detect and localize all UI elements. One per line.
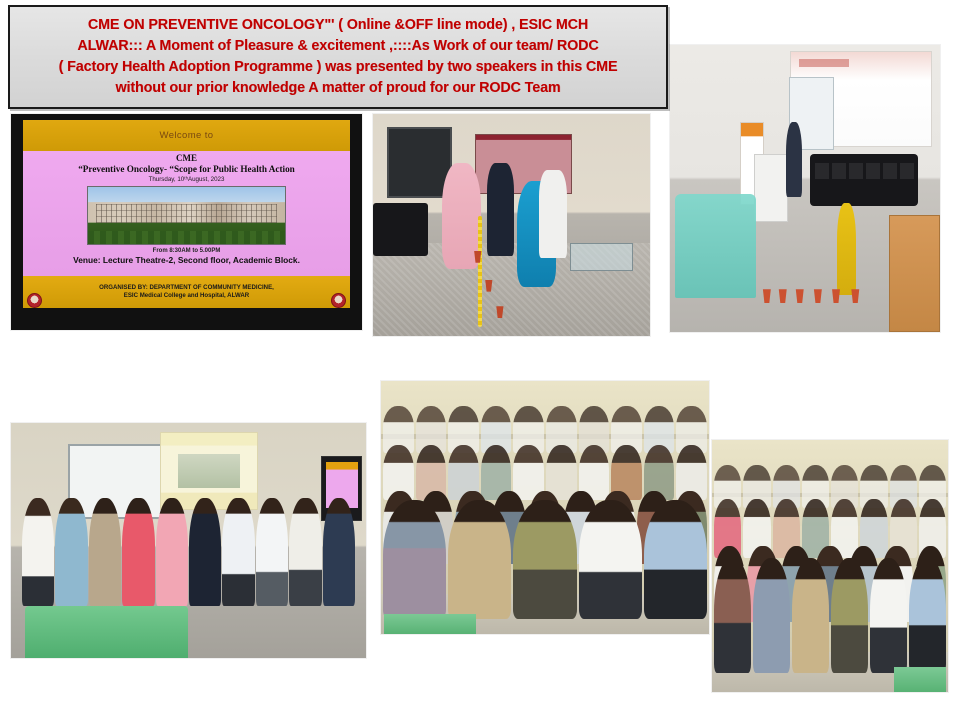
- green-bench: [384, 614, 476, 634]
- slide-organised-line-1: ORGANISED BY: DEPARTMENT OF COMMUNITY ME…: [99, 284, 274, 292]
- audience-rows: [712, 465, 948, 677]
- person: [644, 500, 707, 619]
- photo-speaker-at-podium: [670, 45, 940, 332]
- person-dark-suit: [487, 163, 515, 256]
- green-bench: [25, 606, 188, 658]
- slide-welcome-band: Welcome to: [23, 120, 349, 150]
- tv-screen: Welcome to CME “Preventive Oncology- “Sc…: [23, 120, 349, 308]
- esic-logo-left-icon: [27, 293, 42, 308]
- slide-date: Thursday, 10ᵗʰAugust, 2023: [149, 176, 225, 183]
- esic-logo-right-icon: [331, 293, 346, 308]
- person: [89, 498, 121, 606]
- person: [909, 558, 946, 672]
- title-line-3: ( Factory Health Adoption Programme ) wa…: [59, 57, 618, 78]
- lamp-lighting-scene: [373, 114, 650, 336]
- wall-monitor: [387, 127, 452, 198]
- audience-scene: [381, 381, 709, 634]
- potted-plant: [794, 289, 805, 303]
- podium: [754, 154, 788, 222]
- potted-plant-row: [759, 217, 872, 303]
- speaker-person: [786, 122, 802, 197]
- person: [22, 498, 54, 606]
- podium-scene: [670, 45, 940, 332]
- photo-lamp-lighting-ceremony: [373, 114, 650, 336]
- potted-plant: [777, 289, 788, 303]
- marigold-garland: [478, 216, 482, 327]
- person-white-shirt: [539, 170, 567, 259]
- person: [870, 558, 907, 672]
- potted-plant: [812, 289, 823, 303]
- person: [323, 498, 355, 606]
- audience-row-front: [712, 558, 948, 672]
- person: [122, 498, 154, 606]
- person: [289, 498, 321, 606]
- title-line-1: CME ON PREVENTIVE ONCOLOGY"' ( Online &O…: [59, 15, 618, 36]
- cme-title-text: CME ON PREVENTIVE ONCOLOGY"' ( Online &O…: [53, 15, 624, 99]
- cme-title-banner: CME ON PREVENTIVE ONCOLOGY"' ( Online &O…: [8, 5, 668, 109]
- faculty-row: [22, 498, 356, 606]
- person: [714, 558, 751, 672]
- audience-rows: [381, 406, 709, 619]
- slide-welcome-text: Welcome to: [160, 130, 214, 141]
- person: [222, 498, 254, 606]
- person: [383, 500, 446, 619]
- person: [579, 500, 642, 619]
- glass-side-table: [570, 243, 633, 272]
- black-sofa: [373, 203, 428, 256]
- slide-organiser-band: ORGANISED BY: DEPARTMENT OF COMMUNITY ME…: [23, 276, 349, 308]
- photo-presentation-slide-on-tv: Welcome to CME “Preventive Oncology- “Sc…: [11, 114, 362, 330]
- audience-scene: [712, 440, 948, 692]
- slide-heading: “Preventive Oncology- “Scope for Public …: [78, 164, 295, 174]
- person: [156, 498, 188, 606]
- potted-plant: [831, 289, 842, 303]
- person: [792, 558, 829, 672]
- slide-venue: Venue: Lecture Theatre-2, Second floor, …: [73, 255, 300, 265]
- slide-canvas: CME ON PREVENTIVE ONCOLOGY"' ( Online &O…: [0, 0, 960, 720]
- photo-audience-right-view: [712, 440, 948, 692]
- teal-chairs: [675, 194, 756, 297]
- potted-plant: [850, 289, 861, 303]
- person: [189, 498, 221, 606]
- slide-cme-label: CME: [176, 153, 197, 163]
- person: [448, 500, 511, 619]
- audience-row-front: [381, 500, 709, 619]
- person: [513, 500, 576, 619]
- group-photo-scene: [11, 423, 366, 658]
- slide-organised-line-2: ESIC Medical College and Hospital, ALWAR: [124, 292, 249, 300]
- person: [831, 558, 868, 672]
- photo-audience-front-rows: [381, 381, 709, 634]
- person: [753, 558, 790, 672]
- title-line-4: without our prior knowledge A matter of …: [59, 78, 618, 99]
- slide-hospital-building-image: [87, 186, 286, 245]
- photo-faculty-group-photo: [11, 423, 366, 658]
- black-sofa: [810, 154, 918, 206]
- green-bench: [894, 667, 946, 692]
- slide-body: CME “Preventive Oncology- “Scope for Pub…: [23, 151, 349, 277]
- person: [55, 498, 87, 606]
- wooden-lectern: [889, 215, 940, 332]
- title-line-2: ALWAR::: A Moment of Pleasure & exciteme…: [59, 36, 618, 57]
- slide-time: From 8:30AM to 5.00PM: [153, 248, 221, 254]
- person: [256, 498, 288, 606]
- potted-plant: [761, 289, 772, 303]
